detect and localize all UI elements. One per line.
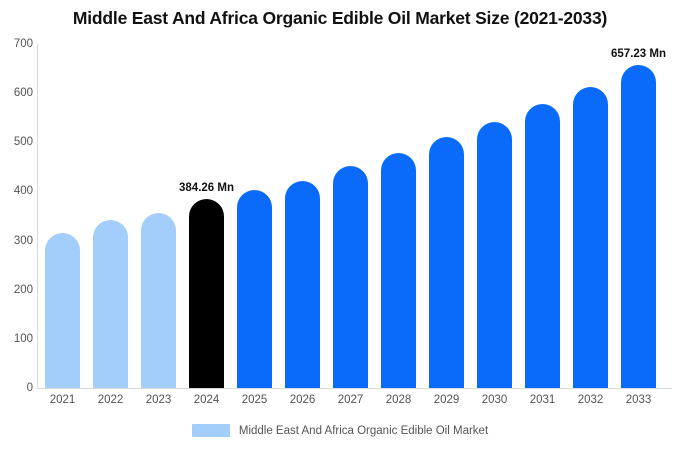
bar-column[interactable] [285, 181, 320, 388]
legend-swatch-icon [192, 424, 230, 437]
bar-2028[interactable] [381, 153, 416, 388]
bar-2025[interactable] [237, 190, 272, 388]
y-axis-tick-label: 100 [3, 333, 33, 345]
bar-column[interactable] [141, 213, 176, 388]
chart-legend[interactable]: Middle East And Africa Organic Edible Oi… [0, 424, 680, 437]
bar-value-label: 657.23 Mn [611, 48, 666, 60]
bar-2024[interactable] [189, 199, 224, 388]
chart-title: Middle East And Africa Organic Edible Oi… [0, 8, 680, 29]
y-axis-tick-label: 600 [3, 87, 33, 99]
legend-label: Middle East And Africa Organic Edible Oi… [239, 425, 488, 437]
bar-value-label: 384.26 Mn [179, 182, 234, 194]
bar-2022[interactable] [93, 220, 128, 388]
bar-column[interactable]: 384.26 Mn [189, 199, 224, 388]
bar-column[interactable] [381, 153, 416, 388]
bar-column[interactable] [333, 166, 368, 388]
y-axis-tick-label: 300 [3, 235, 33, 247]
y-axis-tick-label: 700 [3, 38, 33, 50]
bar-column[interactable] [93, 220, 128, 388]
bar-2031[interactable] [525, 104, 560, 388]
bar-column[interactable] [237, 190, 272, 388]
bar-chart: Middle East And Africa Organic Edible Oi… [0, 0, 680, 450]
plot-area: 384.26 Mn657.23 Mn [38, 44, 672, 388]
bar-2023[interactable] [141, 213, 176, 388]
bar-2027[interactable] [333, 166, 368, 388]
y-axis-tick-label: 0 [3, 382, 33, 394]
bar-column[interactable] [573, 87, 608, 388]
y-axis-tick-labels: 7006005004003002001000 [0, 0, 33, 450]
bar-2033[interactable] [621, 65, 656, 388]
y-axis-tick-label: 200 [3, 284, 33, 296]
bar-column[interactable]: 657.23 Mn [621, 65, 656, 388]
bar-2030[interactable] [477, 122, 512, 388]
bar-column[interactable] [477, 122, 512, 388]
bar-2032[interactable] [573, 87, 608, 388]
bar-2026[interactable] [285, 181, 320, 388]
y-axis-tick-label: 500 [3, 136, 33, 148]
x-axis-tick-label: 2033 [609, 394, 669, 406]
bar-column[interactable] [45, 233, 80, 388]
y-axis-tick-label: 400 [3, 185, 33, 197]
bar-2021[interactable] [45, 233, 80, 388]
bar-column[interactable] [429, 137, 464, 388]
bar-column[interactable] [525, 104, 560, 388]
x-axis-line [37, 388, 672, 389]
bar-2029[interactable] [429, 137, 464, 388]
